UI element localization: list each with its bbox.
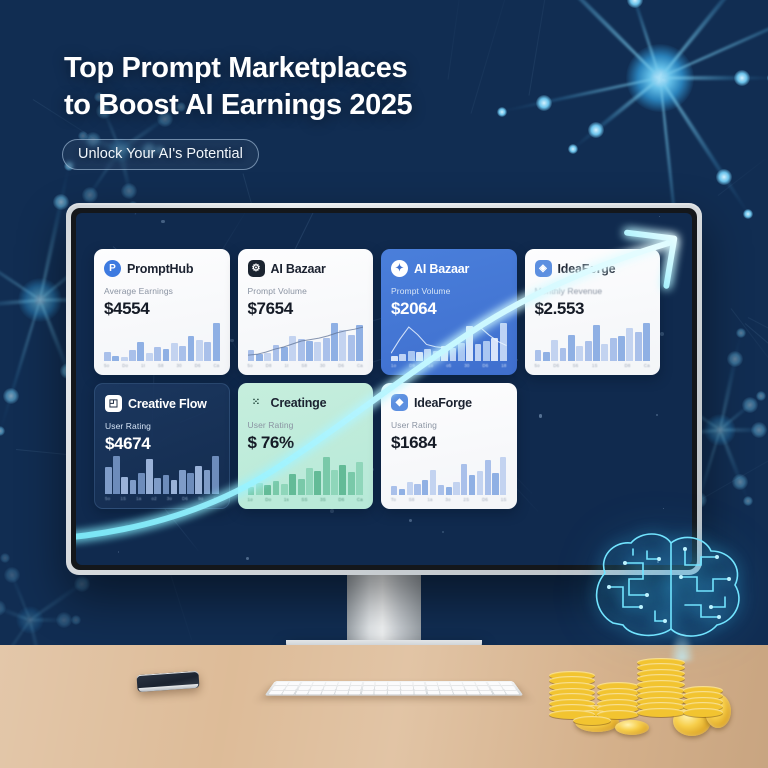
dashboard-card[interactable]: ◈IdeaForgeMonthly Revenue$2.5535oD6S61SD… xyxy=(525,249,661,375)
prompthub-p-icon: P xyxy=(104,260,121,277)
card-metric-value: $2064 xyxy=(391,299,507,319)
keyboard-key xyxy=(388,682,399,685)
keyboard-key xyxy=(362,686,374,690)
card-metric-value: $ 76% xyxy=(248,433,364,453)
keyboard-key xyxy=(500,682,514,685)
chart-bar xyxy=(356,462,363,495)
chart-bar xyxy=(179,470,186,494)
chart-bar xyxy=(306,468,313,495)
keyboard-key xyxy=(490,686,504,690)
neuron-node xyxy=(3,388,19,404)
keyboard-key xyxy=(298,686,311,690)
chart-bars xyxy=(391,457,507,495)
chart-axis-labels: 5oDo1tS830D6Ca xyxy=(104,363,220,368)
card-header: ◰Creative Flow xyxy=(105,395,219,412)
chart-bar xyxy=(171,480,178,494)
axis-tick-label: 3S xyxy=(320,497,326,502)
chart-bar xyxy=(129,350,136,361)
chart-bar xyxy=(298,479,305,495)
page-title: Top Prompt Marketplaces to Boost AI Earn… xyxy=(64,50,494,124)
card-bar-chart: 5oD6S61SD8Ca xyxy=(535,323,651,369)
chart-bar xyxy=(568,335,575,361)
axis-tick-label: 9o xyxy=(198,496,203,501)
keyboard-key xyxy=(414,691,426,695)
axis-tick-label: 30 xyxy=(320,363,325,368)
keyboard-key xyxy=(349,686,361,690)
screen-star xyxy=(246,557,249,560)
chart-bar xyxy=(576,346,583,361)
chart-bar xyxy=(146,459,153,494)
chart-bar xyxy=(113,456,120,494)
axis-tick-label: Ca xyxy=(644,363,650,368)
chart-bar xyxy=(105,467,112,494)
card-header: ⚙AI Bazaar xyxy=(248,260,364,277)
chart-bar xyxy=(212,456,219,494)
screen-star xyxy=(161,220,165,224)
axis-tick-label: o5 xyxy=(446,363,451,368)
keyboard-key xyxy=(479,691,493,695)
chart-bar xyxy=(130,480,137,494)
card-bar-chart: 1oDo1sSS3SD6Ca xyxy=(248,457,364,503)
screen-link xyxy=(162,506,198,551)
keyboard-key xyxy=(308,691,322,695)
card-bar-chart: 1oD91oo530D618 xyxy=(391,323,507,369)
chart-bar xyxy=(196,340,203,361)
neuron-node xyxy=(588,122,604,138)
card-metric-value: $4674 xyxy=(105,434,219,454)
keyboard-key xyxy=(464,686,477,690)
keyboard-key xyxy=(466,691,480,695)
chart-bar xyxy=(323,457,330,495)
desktop-monitor: PPromptHubAverage Earnings$45545oDo1tS83… xyxy=(66,203,702,575)
chart-bar xyxy=(643,323,650,361)
keyboard xyxy=(264,681,523,696)
chart-trend-line xyxy=(248,323,364,361)
axis-tick-label: S8 xyxy=(301,363,307,368)
axis-tick-label: D6 xyxy=(553,363,559,368)
screen-star xyxy=(659,216,660,217)
axis-tick-label: 30 xyxy=(464,363,469,368)
card-metric-label: User Rating xyxy=(248,420,364,430)
keyboard-key xyxy=(401,686,413,690)
neuron-node xyxy=(56,612,72,628)
card-header: PPromptHub xyxy=(104,260,220,277)
dashboard-card[interactable]: ⁙CreatingeUser Rating$ 76%1oDo1sSS3SD6Ca xyxy=(238,383,374,509)
poster-canvas: Top Prompt Marketplaces to Boost AI Earn… xyxy=(0,0,768,768)
chart-bar xyxy=(610,338,617,361)
keyboard-key xyxy=(414,686,426,690)
card-header: ✦AI Bazaar xyxy=(391,260,507,277)
keyboard-key xyxy=(350,682,362,685)
keyboard-key xyxy=(338,682,350,685)
chart-bar xyxy=(469,475,475,495)
card-bar-chart: 5oD81tS830D6Ca xyxy=(248,323,364,369)
card-metric-value: $1684 xyxy=(391,433,507,453)
screen-star xyxy=(409,519,412,522)
chart-bar xyxy=(187,473,194,494)
chart-bar xyxy=(339,465,346,495)
keyboard-key xyxy=(313,682,326,685)
neuron-node xyxy=(734,70,750,86)
card-header: ◈IdeaForge xyxy=(535,260,651,277)
axis-tick-label: o2 xyxy=(151,496,156,501)
card-title: AI Bazaar xyxy=(414,262,469,276)
axis-tick-label: S8 xyxy=(158,363,164,368)
card-header: ◆IdeaForge xyxy=(391,394,507,411)
keyboard-key xyxy=(348,691,361,695)
chart-bar xyxy=(348,472,355,495)
chart-bar xyxy=(289,474,296,495)
axis-tick-label: 1s xyxy=(284,497,289,502)
keyboard-key xyxy=(282,691,296,695)
card-title: IdeaForge xyxy=(414,396,472,410)
title-line-2: to Boost AI Earnings 2025 xyxy=(64,87,494,124)
chart-bar xyxy=(430,470,436,495)
axis-tick-label: 5o xyxy=(535,363,540,368)
axis-tick-label: 1S xyxy=(592,363,598,368)
sparkle-x-icon: ✦ xyxy=(391,260,408,277)
keyboard-key xyxy=(285,686,299,690)
card-header: ⁙Creatinge xyxy=(248,394,364,411)
card-title: Creatinge xyxy=(271,396,327,410)
chart-bar xyxy=(204,470,211,494)
keyboard-key xyxy=(336,686,349,690)
chart-bar xyxy=(154,347,161,361)
chart-bar xyxy=(104,352,111,361)
screen-star xyxy=(118,551,120,553)
neuron-node xyxy=(743,496,753,506)
keyboard-key xyxy=(425,682,437,685)
axis-tick-label: 5o xyxy=(248,363,253,368)
axis-tick-label: 2S xyxy=(463,497,469,502)
keyboard-key xyxy=(505,691,519,695)
chart-bar xyxy=(179,346,186,361)
card-bar-chart: 5o1S1ao23oD69o1s xyxy=(105,456,219,502)
chart-bar xyxy=(438,485,444,495)
keyboard-key xyxy=(440,691,453,695)
chart-axis-labels: ToS81a3o2SD61S xyxy=(391,497,507,502)
neuron-node xyxy=(743,209,753,219)
gold-coin xyxy=(637,708,685,717)
chart-bar xyxy=(535,350,542,362)
chart-bar xyxy=(264,485,271,495)
brain-energy-beam xyxy=(669,631,695,661)
screen-star xyxy=(663,508,665,510)
axis-tick-label: D6 xyxy=(338,497,344,502)
chart-bar xyxy=(163,349,170,361)
axis-tick-label: S6 xyxy=(573,363,579,368)
keyboard-key xyxy=(463,682,476,685)
neuron-node xyxy=(4,567,20,583)
axis-tick-label: 1S xyxy=(501,497,507,502)
card-metric-label: User Rating xyxy=(391,420,507,430)
chart-bars xyxy=(535,323,651,361)
gold-coin xyxy=(683,708,723,717)
chart-axis-labels: 1oDo1sSS3SD6Ca xyxy=(248,497,364,502)
coin-stack xyxy=(597,674,639,719)
card-bar-chart: ToS81a3o2SD61S xyxy=(391,457,507,503)
keyboard-key xyxy=(450,682,463,685)
chart-bar xyxy=(391,486,397,495)
neuron-node xyxy=(751,422,767,438)
chart-bar xyxy=(407,482,413,495)
dashboard-card[interactable]: ◰Creative FlowUser Rating$46745o1S1ao23o… xyxy=(94,383,230,509)
axis-tick-label: D8 xyxy=(266,363,272,368)
axis-tick-label: 3o xyxy=(445,497,450,502)
axis-tick-label: To xyxy=(391,497,396,502)
dashboard-card[interactable]: ⚙AI BazaarPrompt Volume$76545oD81tS830D6… xyxy=(238,249,374,375)
brain-circuit-svg xyxy=(585,527,753,645)
monitor-bezel: PPromptHubAverage Earnings$45545oDo1tS83… xyxy=(71,208,697,570)
keyboard-key xyxy=(325,682,338,685)
chart-bar xyxy=(112,356,119,361)
chart-bar xyxy=(585,341,592,361)
dashboard-card[interactable]: ◆IdeaForgeUser Rating$1684ToS81a3o2SD61S xyxy=(381,383,517,509)
chart-bar xyxy=(314,471,321,495)
neuron-node xyxy=(536,95,552,111)
ai-circuit-brain-icon xyxy=(585,527,753,645)
axis-tick-label: 1o xyxy=(248,497,253,502)
monitor-neck xyxy=(347,572,421,644)
chart-bar xyxy=(414,484,420,495)
keyboard-key xyxy=(453,691,466,695)
axis-tick-label: D9 xyxy=(409,363,415,368)
neuron-node xyxy=(121,183,137,199)
dashboard-card-grid: PPromptHubAverage Earnings$45545oDo1tS83… xyxy=(94,249,660,509)
keyboard-key xyxy=(335,691,348,695)
axis-tick-label: S8 xyxy=(409,497,415,502)
neuron-node xyxy=(82,187,98,203)
keyboard-key xyxy=(375,686,387,690)
chart-bar xyxy=(560,348,567,361)
keyboard-key xyxy=(300,682,313,685)
chart-bar xyxy=(453,482,459,495)
chart-bar xyxy=(213,323,220,361)
card-metric-label: User Rating xyxy=(105,421,219,431)
axis-tick-label: D6 xyxy=(195,363,201,368)
chart-axis-labels: 5oD6S61SD8Ca xyxy=(535,363,651,368)
screen-star xyxy=(660,332,664,336)
axis-tick-label: 5o xyxy=(104,363,109,368)
chart-bar xyxy=(593,325,600,361)
keyboard-key xyxy=(477,686,490,690)
axis-tick-label: D8 xyxy=(624,363,630,368)
ideaforge-badge-icon: ◈ xyxy=(535,260,552,277)
axis-tick-label: Do xyxy=(122,363,128,368)
keyboard-key xyxy=(287,682,300,685)
chart-bar xyxy=(204,342,211,361)
keyboard-key xyxy=(438,682,450,685)
axis-tick-label: 1S xyxy=(120,496,126,501)
creative-flow-icon: ◰ xyxy=(105,395,122,412)
axis-tick-label: D6 xyxy=(182,496,188,501)
keyboard-key xyxy=(401,691,413,695)
chart-bar xyxy=(492,473,498,495)
chart-bar xyxy=(281,484,288,495)
chart-bar xyxy=(446,487,452,495)
gold-coin xyxy=(573,716,611,725)
chart-bars xyxy=(105,456,219,494)
chart-bar xyxy=(154,478,161,494)
axis-tick-label: 3o xyxy=(167,496,172,501)
card-metric-label: Prompt Volume xyxy=(391,286,507,296)
axis-tick-label: 1t xyxy=(141,363,145,368)
chart-bars xyxy=(248,457,364,495)
axis-tick-label: 1a xyxy=(136,496,141,501)
chart-bar xyxy=(461,464,467,495)
card-title: AI Bazaar xyxy=(271,262,326,276)
chart-bar xyxy=(188,336,195,361)
keyboard-key xyxy=(426,686,438,690)
axis-tick-label: 1t xyxy=(284,363,288,368)
keyboard-key xyxy=(363,682,375,685)
keyboard-key xyxy=(295,691,309,695)
chart-bar xyxy=(171,343,178,361)
screen-link xyxy=(135,213,206,214)
axis-tick-label: 1o xyxy=(391,363,396,368)
screen-star xyxy=(442,531,444,533)
chart-trend-line xyxy=(391,323,507,361)
chart-bar xyxy=(121,477,128,494)
card-metric-label: Average Earnings xyxy=(104,286,220,296)
neuron-node xyxy=(497,107,507,117)
neuron-node xyxy=(736,328,746,338)
card-metric-label: Prompt Volume xyxy=(248,286,364,296)
chart-bar xyxy=(477,471,483,495)
chart-bar xyxy=(138,473,145,494)
keyboard-key xyxy=(375,691,387,695)
axis-tick-label: Ca xyxy=(357,497,363,502)
keyboard-key xyxy=(323,686,336,690)
neuron-node xyxy=(568,144,578,154)
gold-coin-flat xyxy=(615,720,649,735)
keyboard-key xyxy=(388,686,400,690)
keyboard-key xyxy=(401,682,413,685)
axis-tick-label: 5o xyxy=(105,496,110,501)
keyboard-key xyxy=(322,691,335,695)
keyboard-key xyxy=(492,691,506,695)
dashboard-card[interactable]: ✦AI BazaarPrompt Volume$20641oD91oo530D6… xyxy=(381,249,517,375)
robot-icon: ⚙ xyxy=(248,260,265,277)
coin-stack xyxy=(637,648,685,717)
chart-axis-labels: 5o1S1ao23oD69o1s xyxy=(105,496,219,501)
axis-tick-label: D6 xyxy=(482,497,488,502)
keyboard-key xyxy=(311,686,324,690)
coin-stack xyxy=(683,678,723,717)
card-metric-label: Monthly Revenue xyxy=(535,286,651,296)
chart-bar xyxy=(273,481,280,495)
monitor-screen: PPromptHubAverage Earnings$45545oDo1tS83… xyxy=(76,213,692,565)
keyboard-key xyxy=(475,682,488,685)
axis-tick-label: 1o xyxy=(428,363,433,368)
chart-bar xyxy=(601,344,608,361)
chart-bar xyxy=(137,342,144,361)
axis-tick-label: 18 xyxy=(501,363,506,368)
axis-tick-label: D6 xyxy=(338,363,344,368)
chart-bar xyxy=(163,475,170,494)
axis-tick-label: 1a xyxy=(427,497,432,502)
card-metric-value: $2.553 xyxy=(535,299,651,319)
card-bar-chart: 5oDo1tS830D6Ca xyxy=(104,323,220,369)
keyboard-key xyxy=(376,682,388,685)
chart-bar xyxy=(121,357,128,361)
tagline-badge: Unlock Your AI's Potential xyxy=(62,139,259,170)
chart-bar xyxy=(626,328,633,361)
keyboard-keys xyxy=(269,682,520,694)
ideaforge-cube-icon: ◆ xyxy=(391,394,408,411)
axis-tick-label: 30 xyxy=(176,363,181,368)
keyboard-key xyxy=(388,691,400,695)
chart-bar xyxy=(248,487,255,495)
keyboard-key xyxy=(439,686,452,690)
chart-bar xyxy=(618,336,625,361)
chart-bar xyxy=(500,457,506,495)
chart-axis-labels: 5oD81tS830D6Ca xyxy=(248,363,364,368)
axis-tick-label: Ca xyxy=(213,363,219,368)
keyboard-key xyxy=(413,682,425,685)
chart-bar xyxy=(635,332,642,361)
chart-bars xyxy=(104,323,220,361)
axis-tick-label: SS xyxy=(301,497,307,502)
card-metric-value: $7654 xyxy=(248,299,364,319)
neuron-node xyxy=(74,576,90,592)
title-line-1: Top Prompt Marketplaces xyxy=(64,50,494,87)
screen-star xyxy=(330,509,334,513)
chart-bar xyxy=(146,353,153,361)
keyboard-key xyxy=(487,682,500,685)
axis-tick-label: Do xyxy=(265,497,271,502)
keyboard-key xyxy=(452,686,465,690)
node-cluster-icon: ⁙ xyxy=(248,394,265,411)
chart-bar xyxy=(399,489,405,495)
card-metric-value: $4554 xyxy=(104,299,220,319)
axis-tick-label: D6 xyxy=(482,363,488,368)
keyboard-key xyxy=(427,691,440,695)
card-title: PromptHub xyxy=(127,262,193,276)
chart-bar xyxy=(485,460,491,495)
chart-bar xyxy=(422,480,428,495)
chart-bar xyxy=(331,470,338,495)
keyboard-key xyxy=(502,686,516,690)
axis-tick-label: 1s xyxy=(213,496,218,501)
dashboard-card[interactable]: PPromptHubAverage Earnings$45545oDo1tS83… xyxy=(94,249,230,375)
chart-bar xyxy=(543,352,550,361)
chart-bar xyxy=(551,340,558,361)
chart-bar xyxy=(195,466,202,495)
chart-axis-labels: 1oD91oo530D618 xyxy=(391,363,507,368)
coin-stack xyxy=(549,662,595,719)
axis-tick-label: Ca xyxy=(357,363,363,368)
card-title: IdeaForge xyxy=(558,262,616,276)
chart-bar xyxy=(256,483,263,495)
card-title: Creative Flow xyxy=(128,397,207,411)
keyboard-key xyxy=(361,691,373,695)
